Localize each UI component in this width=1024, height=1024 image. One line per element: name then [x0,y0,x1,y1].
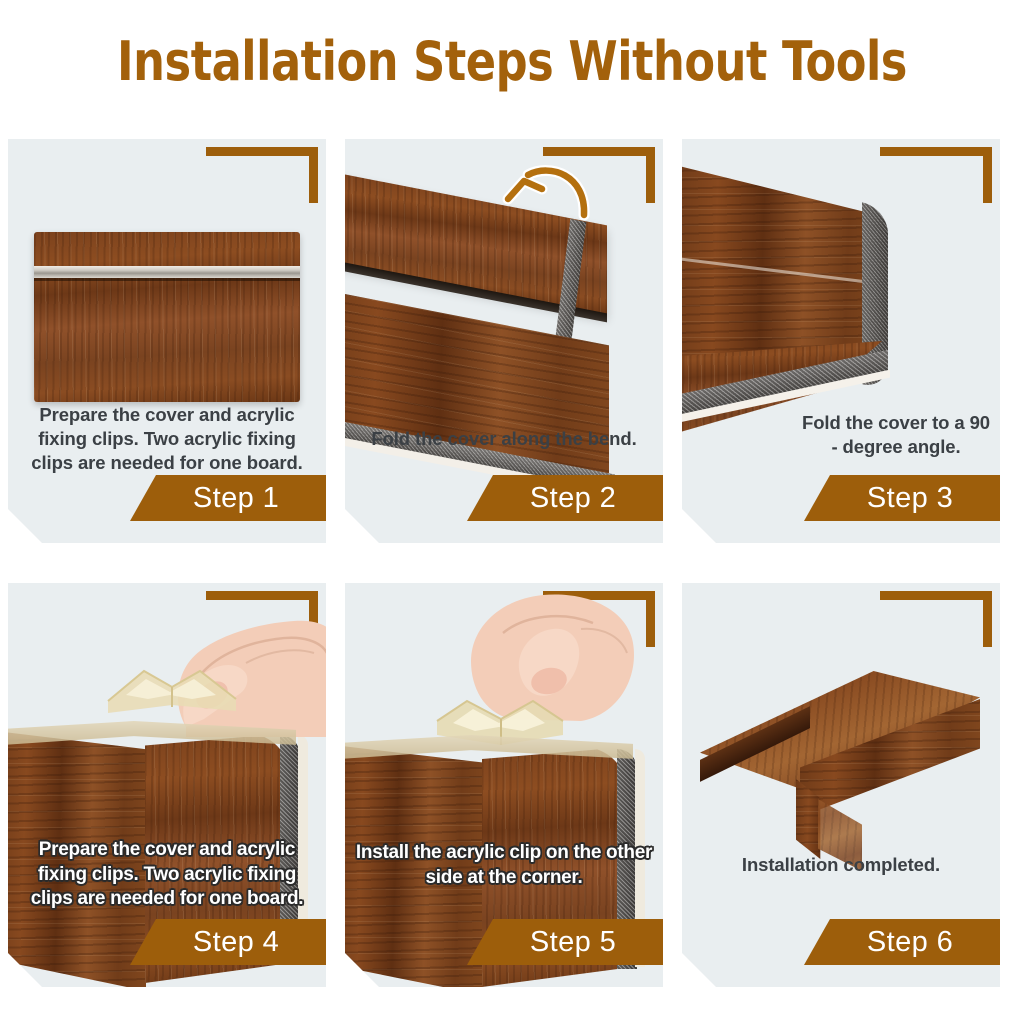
step-badge-label-5: Step 5 [514,926,616,959]
step-caption-3: Fold the cover to a 90 - degree angle. [802,411,990,459]
step-caption-6: Installation completed. [690,853,992,877]
corner-bracket-icon [880,591,992,647]
step-badge-1: Step 1 [130,475,326,521]
step-badge-label-2: Step 2 [514,482,616,515]
step-caption-1: Prepare the cover and acrylic fixing cli… [16,403,318,475]
step-badge-label-6: Step 6 [851,926,953,959]
page-title: Installation Steps Without Tools [41,30,983,93]
step-badge-label-1: Step 1 [177,482,279,515]
step-caption-4: Prepare the cover and acrylic fixing cli… [16,838,318,912]
step-caption-5: Install the acrylic clip on the other si… [353,841,655,890]
step-card-4[interactable]: Prepare the cover and acrylic fixing cli… [8,583,326,987]
steps-grid: Prepare the cover and acrylic fixing cli… [8,139,1016,1009]
step-badge-2: Step 2 [467,475,663,521]
step-badge-label-3: Step 3 [851,482,953,515]
corner-bracket-icon [206,147,318,203]
step-badge-4: Step 4 [130,919,326,965]
wood-board-image [34,232,300,402]
step-badge-5: Step 5 [467,919,663,965]
step-card-6[interactable]: Installation completed. Step 6 [682,583,1000,987]
fold-direction-arrow-icon [480,159,595,221]
step-card-5[interactable]: Install the acrylic clip on the other si… [345,583,663,987]
step-badge-label-4: Step 4 [177,926,279,959]
step-badge-3: Step 3 [804,475,1000,521]
finished-board-image [700,661,990,851]
step-card-2[interactable]: Fold the cover along the bend. Step 2 [345,139,663,543]
step-card-1[interactable]: Prepare the cover and acrylic fixing cli… [8,139,326,543]
acrylic-clip-icon [96,665,246,725]
step-card-3[interactable]: Fold the cover to a 90 - degree angle. S… [682,139,1000,543]
step-caption-2: Fold the cover along the bend. [353,427,655,451]
step-badge-6: Step 6 [804,919,1000,965]
